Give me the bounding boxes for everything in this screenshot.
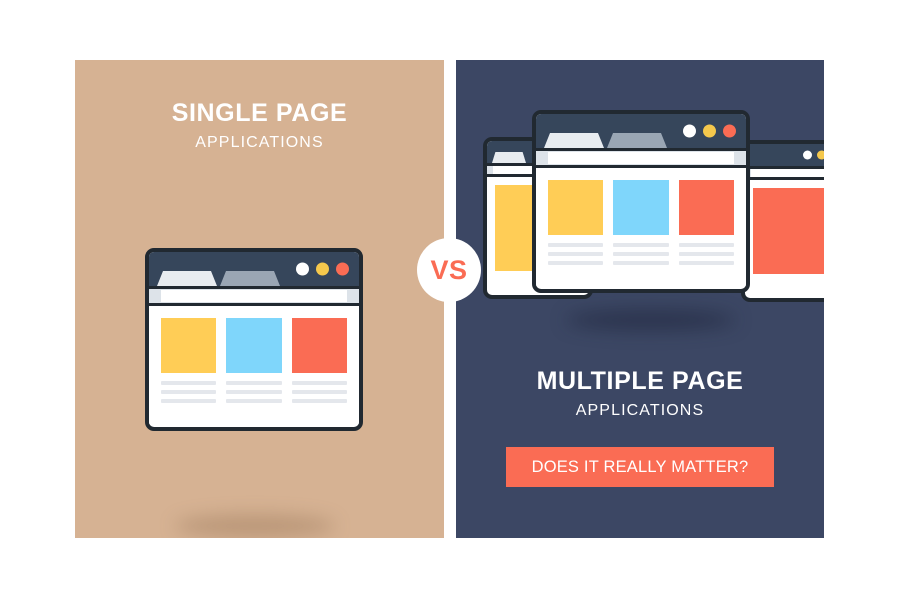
text-line xyxy=(161,381,216,385)
window-dot-yellow-icon[interactable] xyxy=(817,151,824,160)
window-shadow xyxy=(175,515,335,537)
content-card-yellow[interactable] xyxy=(548,180,603,235)
text-line xyxy=(226,381,281,385)
text-line xyxy=(161,399,216,403)
browser-window-single[interactable] xyxy=(145,248,363,431)
browser-tabs xyxy=(544,132,667,148)
text-line xyxy=(292,390,347,394)
window-controls xyxy=(803,151,824,160)
window-controls xyxy=(683,125,736,138)
window-dot-white-icon[interactable] xyxy=(683,125,696,138)
content-card-blue[interactable] xyxy=(226,318,281,373)
address-bar[interactable] xyxy=(149,286,359,306)
browser-tab-active[interactable] xyxy=(157,271,217,286)
panel-single-page: SINGLE PAGE APPLICATIONS xyxy=(75,60,444,538)
browser-tab-active[interactable] xyxy=(544,133,604,148)
page-subtitle: APPLICATIONS xyxy=(456,402,824,420)
content-card-coral[interactable] xyxy=(679,180,734,235)
address-input[interactable] xyxy=(751,169,824,177)
vs-label: VS xyxy=(430,255,467,286)
page-title: MULTIPLE PAGE xyxy=(456,368,824,396)
browser-tab-active[interactable] xyxy=(492,152,526,163)
text-line xyxy=(679,252,734,256)
window-dot-coral-icon[interactable] xyxy=(723,125,736,138)
window-titlebar xyxy=(745,144,824,166)
content-card-coral[interactable] xyxy=(292,318,347,373)
window-dot-coral-icon[interactable] xyxy=(336,263,349,276)
text-line xyxy=(226,390,281,394)
page-subtitle: APPLICATIONS xyxy=(75,134,444,152)
content-card-coral[interactable] xyxy=(753,188,824,274)
content-card-yellow[interactable] xyxy=(161,318,216,373)
text-line xyxy=(226,399,281,403)
window-dot-white-icon[interactable] xyxy=(296,263,309,276)
browser-tab-inactive[interactable] xyxy=(220,271,280,286)
content-column xyxy=(292,318,347,408)
browser-tabs xyxy=(157,270,280,286)
content-column xyxy=(753,188,824,284)
text-line xyxy=(292,399,347,403)
content-column xyxy=(679,180,734,270)
window-titlebar xyxy=(149,252,359,286)
content-column xyxy=(613,180,668,270)
text-line xyxy=(679,243,734,247)
page-title: SINGLE PAGE xyxy=(75,100,444,128)
browser-tabs xyxy=(492,152,526,163)
single-page-heading: SINGLE PAGE APPLICATIONS xyxy=(75,100,444,151)
cta-button[interactable]: DOES IT REALLY MATTER? xyxy=(506,447,774,487)
window-dot-white-icon[interactable] xyxy=(803,151,812,160)
window-dot-yellow-icon[interactable] xyxy=(703,125,716,138)
content-card-blue[interactable] xyxy=(613,180,668,235)
address-bar[interactable] xyxy=(536,148,746,168)
text-line xyxy=(548,261,603,265)
window-content xyxy=(536,168,746,286)
window-controls xyxy=(296,263,349,276)
window-content xyxy=(149,306,359,424)
text-line xyxy=(548,252,603,256)
address-input[interactable] xyxy=(548,152,734,164)
content-column xyxy=(226,318,281,408)
address-bar[interactable] xyxy=(745,166,824,180)
text-line xyxy=(292,381,347,385)
panel-multiple-page: MULTIPLE PAGE APPLICATIONS DOES IT REALL… xyxy=(456,60,824,538)
text-line xyxy=(161,390,216,394)
browser-window-front[interactable] xyxy=(532,110,750,293)
text-line xyxy=(548,243,603,247)
content-column xyxy=(161,318,216,408)
text-line xyxy=(613,252,668,256)
browser-window-back-right[interactable] xyxy=(741,140,824,302)
browser-tab-inactive[interactable] xyxy=(607,133,667,148)
window-shadow xyxy=(566,310,736,330)
window-dot-yellow-icon[interactable] xyxy=(316,263,329,276)
window-titlebar xyxy=(536,114,746,148)
text-line xyxy=(613,261,668,265)
text-line xyxy=(679,261,734,265)
content-column xyxy=(548,180,603,270)
address-input[interactable] xyxy=(161,290,347,302)
vs-badge: VS xyxy=(417,238,481,302)
multiple-page-heading: MULTIPLE PAGE APPLICATIONS xyxy=(456,368,824,419)
window-content xyxy=(745,180,824,292)
text-line xyxy=(613,243,668,247)
